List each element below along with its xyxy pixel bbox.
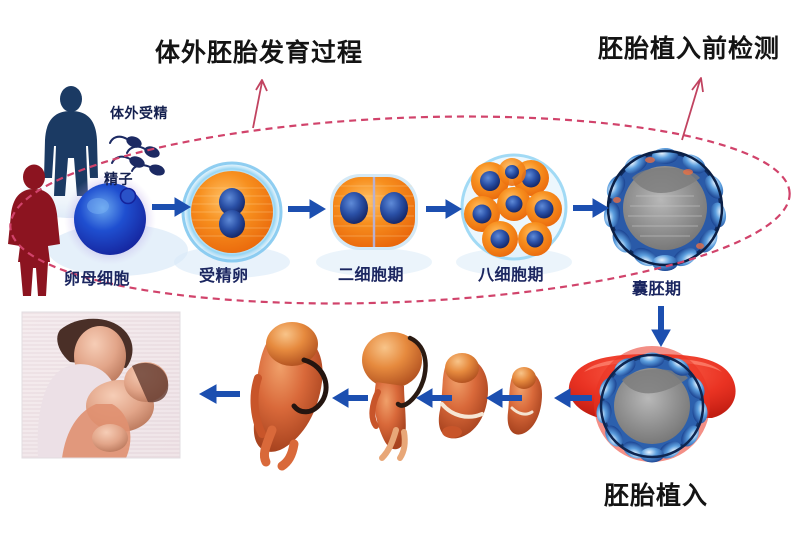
fetus-stage-mid [362,332,426,458]
two-cell-illustration [330,174,418,250]
stage-label-zygote: 受精卵 [199,268,249,284]
stage-label-two-cell: 二细胞期 [338,267,404,283]
figure-title: 体外胚胎发育过程 [155,40,363,65]
arrow-fetus-early-to-mid [417,389,452,407]
blastocyst-illustration [603,148,728,271]
stage-label-eight-cell: 八细胞期 [478,267,544,283]
arrow-implantation-to-fetus-earliest [555,389,592,407]
mother-and-newborn-photo [22,312,180,458]
arrow-blastocyst-to-implantation [652,306,670,346]
ivf-annotation-label: 体外受精 [110,107,168,121]
fetus-stage-earliest [508,367,542,435]
female-silhouette-icon [8,165,60,297]
pointer-right-heading [682,78,703,140]
arrow-zygote-to-two-cell [288,200,325,218]
fetus-stage-early [439,353,488,438]
stage-label-blastocyst: 囊胚期 [632,281,682,297]
stage-label-oocyte: 卵母细胞 [64,271,130,287]
trophoblast-cells [603,148,728,271]
arrow-oocyte-to-zygote [152,198,190,216]
preimplantation-testing-heading: 胚胎植入前检测 [598,36,780,61]
arrow-fetus-mid-to-late [333,389,368,407]
arrow-fetus-earliest-to-early [487,389,522,407]
stage-arrows-top [152,198,608,218]
sperm-cells-icon [110,134,166,177]
male-silhouette-icon [44,86,98,196]
sperm-annotation-label: 精子 [104,173,133,187]
background-glow [20,174,572,278]
arrow-fetus-late-to-newborn [200,385,240,403]
arrow-two-cell-to-eight-cell [426,200,461,218]
implantation-illustration [569,346,736,463]
zygote-illustration [182,162,282,262]
arrow-eight-cell-to-blastocyst [573,199,608,217]
fetus-stage-late [254,322,326,466]
embryo-implantation-heading: 胚胎植入 [604,483,708,508]
ivf-development-diagram: 体外胚胎发育过程 胚胎植入前检测 胚胎植入 体外受精 精子 卵母细胞 受精卵 二… [0,0,800,533]
eight-cell-illustration [461,154,567,260]
stage-arrows-bottom [200,385,592,407]
heading-pointer-lines [253,78,703,140]
pointer-title [253,80,267,128]
